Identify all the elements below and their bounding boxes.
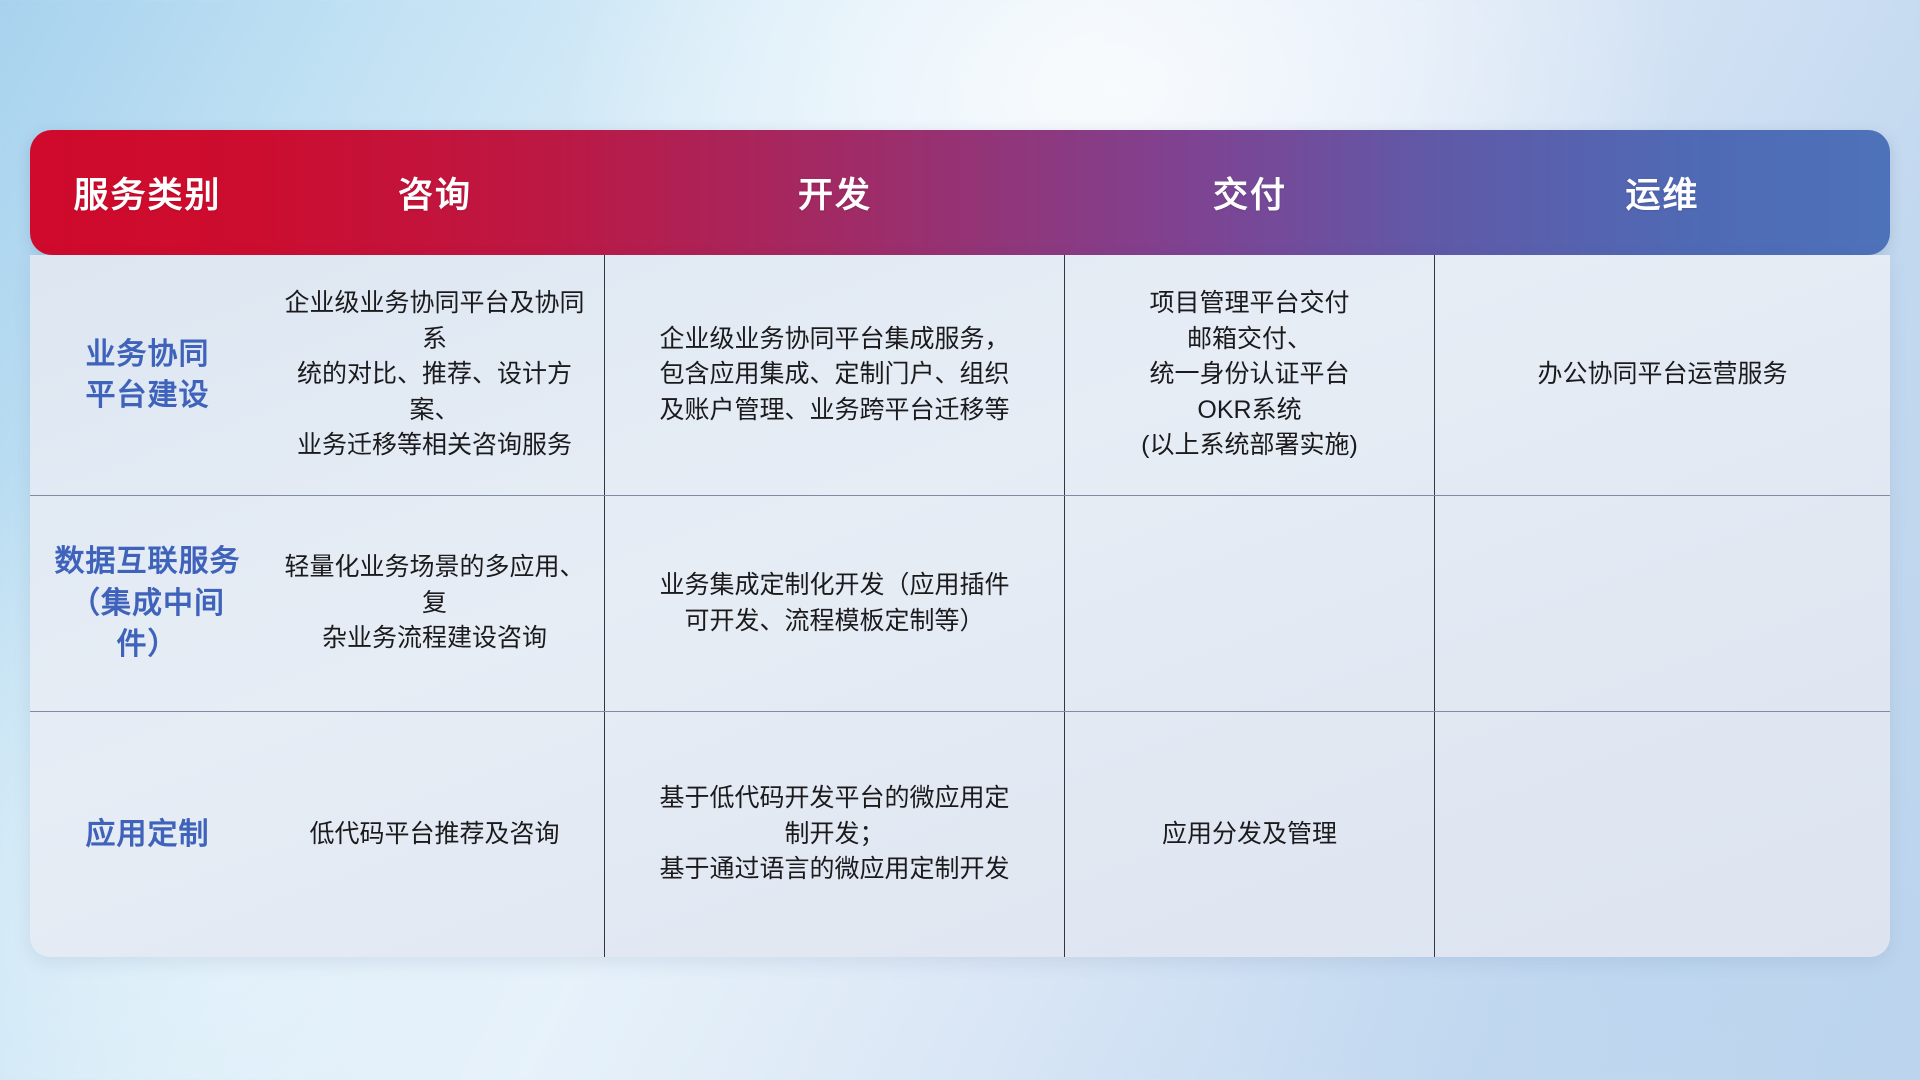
column-header-operations: 运维 [1435, 130, 1890, 255]
service-matrix-table: 服务类别 咨询 开发 交付 运维 业务协同 平台建设 企业级业务协同平台及协同系… [30, 130, 1890, 957]
row-category-label: 数据互联服务 （集成中间件） [30, 496, 265, 711]
cell-operations [1435, 712, 1890, 957]
table-header-row: 服务类别 咨询 开发 交付 运维 [30, 130, 1890, 255]
column-header-development: 开发 [605, 130, 1065, 255]
table-row: 数据互联服务 （集成中间件） 轻量化业务场景的多应用、复 杂业务流程建设咨询 业… [30, 496, 1890, 712]
cell-operations [1435, 496, 1890, 711]
cell-development: 基于低代码开发平台的微应用定 制开发； 基于通过语言的微应用定制开发 [605, 712, 1065, 957]
cell-delivery: 项目管理平台交付 邮箱交付、 统一身份认证平台 OKR系统 (以上系统部署实施) [1065, 255, 1435, 495]
cell-operations: 办公协同平台运营服务 [1435, 255, 1890, 495]
cell-delivery: 应用分发及管理 [1065, 712, 1435, 957]
cell-development: 业务集成定制化开发（应用插件 可开发、流程模板定制等） [605, 496, 1065, 711]
row-category-label: 应用定制 [30, 712, 265, 957]
cell-delivery [1065, 496, 1435, 711]
table-body: 业务协同 平台建设 企业级业务协同平台及协同系 统的对比、推荐、设计方案、 业务… [30, 255, 1890, 957]
cell-consulting: 企业级业务协同平台及协同系 统的对比、推荐、设计方案、 业务迁移等相关咨询服务 [265, 255, 605, 495]
cell-development: 企业级业务协同平台集成服务， 包含应用集成、定制门户、组织 及账户管理、业务跨平… [605, 255, 1065, 495]
column-header-consulting: 咨询 [265, 130, 605, 255]
column-header-delivery: 交付 [1065, 130, 1435, 255]
row-category-label: 业务协同 平台建设 [30, 255, 265, 495]
cell-consulting: 轻量化业务场景的多应用、复 杂业务流程建设咨询 [265, 496, 605, 711]
cell-consulting: 低代码平台推荐及咨询 [265, 712, 605, 957]
column-header-service-category: 服务类别 [30, 130, 265, 255]
table-row: 应用定制 低代码平台推荐及咨询 基于低代码开发平台的微应用定 制开发； 基于通过… [30, 712, 1890, 957]
table-row: 业务协同 平台建设 企业级业务协同平台及协同系 统的对比、推荐、设计方案、 业务… [30, 255, 1890, 496]
